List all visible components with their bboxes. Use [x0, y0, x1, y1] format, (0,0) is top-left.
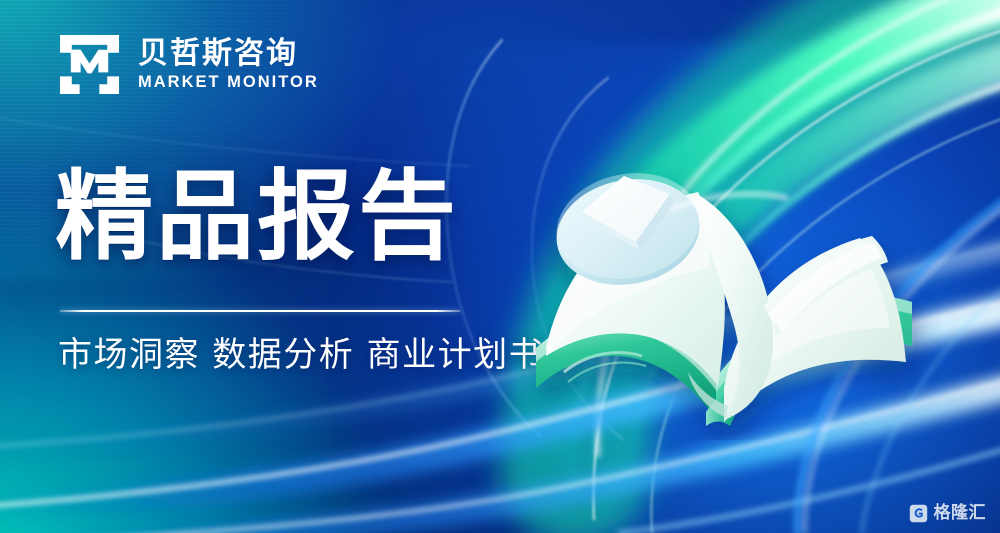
open-book-illustration	[520, 150, 940, 440]
watermark-label: 格隆汇	[934, 505, 987, 522]
brand-name-cn: 贝哲斯咨询	[138, 38, 319, 70]
page-subtitle: 市场洞察 数据分析 商业计划书	[58, 330, 544, 381]
gelonghui-logo-icon	[909, 504, 928, 523]
title-divider	[60, 310, 460, 312]
report-cover-banner: 贝哲斯咨询 MARKET MONITOR 精品报告 市场洞察 数据分析 商业计划…	[0, 0, 1000, 533]
brand-name-en: MARKET MONITOR	[138, 73, 319, 91]
brand-logo-text: 贝哲斯咨询 MARKET MONITOR	[138, 38, 319, 91]
page-title: 精品报告	[55, 166, 459, 270]
market-monitor-logo-icon	[58, 33, 121, 96]
watermark: 格隆汇	[909, 504, 987, 523]
brand-logo: 贝哲斯咨询 MARKET MONITOR	[58, 33, 319, 96]
